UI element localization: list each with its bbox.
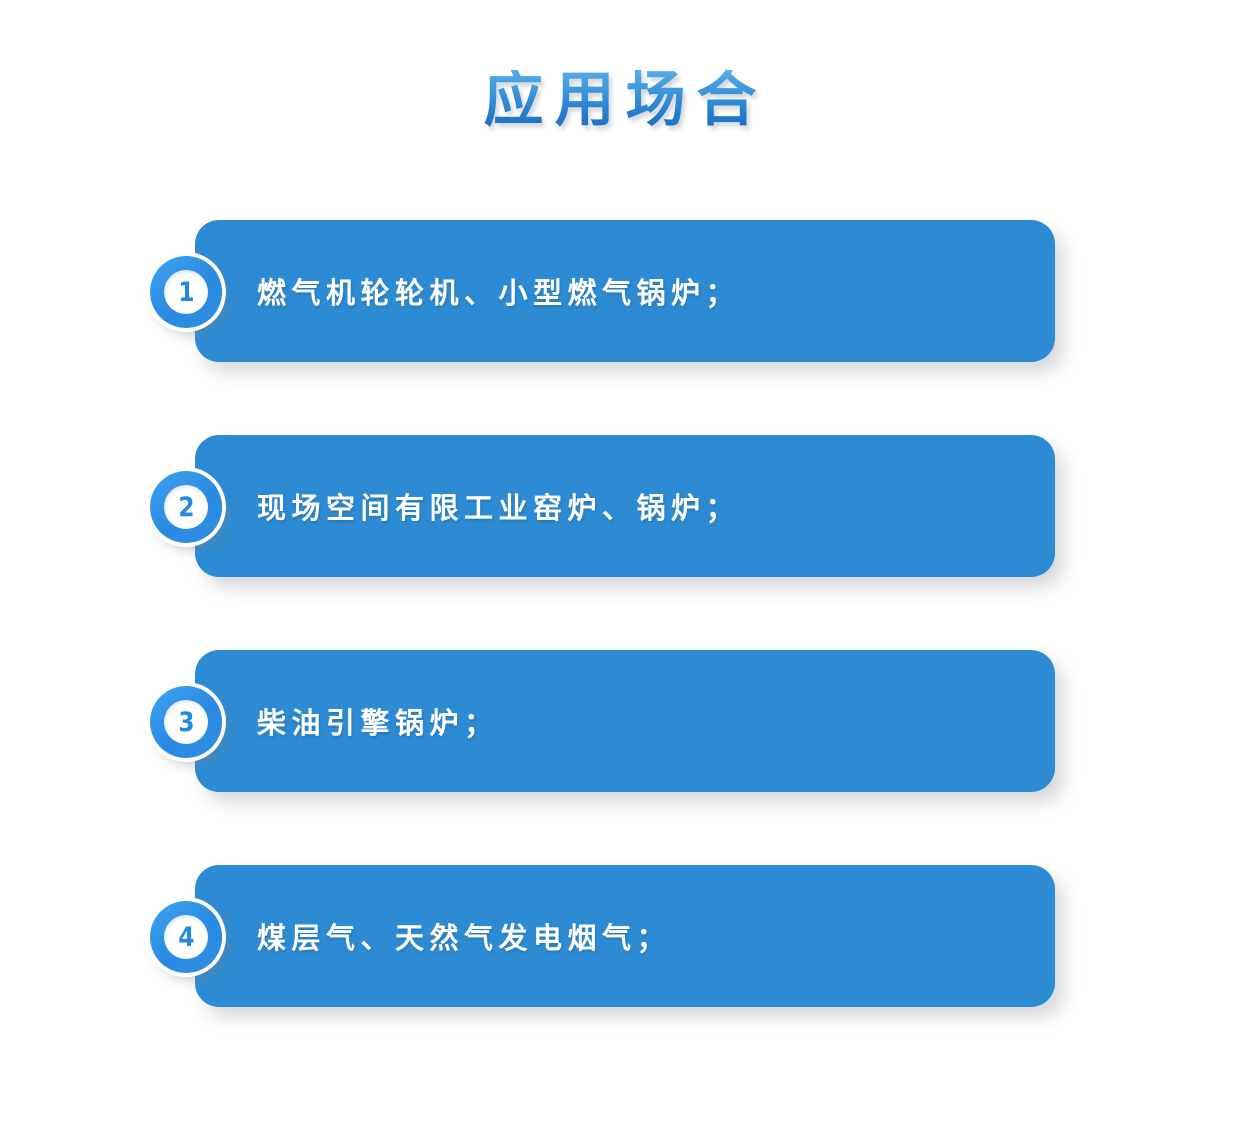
scenario-card-label: 燃气机轮轮机、小型燃气锅炉； <box>257 270 740 312</box>
number-badge-inner: 2 <box>164 485 208 529</box>
number-badge-inner: 3 <box>164 700 208 744</box>
list-item[interactable]: 燃气机轮轮机、小型燃气锅炉； 1 <box>0 220 1240 362</box>
list-item[interactable]: 柴油引擎锅炉； 3 <box>0 650 1240 792</box>
scenario-card-4[interactable]: 煤层气、天然气发电烟气； <box>195 865 1055 1007</box>
list-item[interactable]: 煤层气、天然气发电烟气； 4 <box>0 865 1240 1007</box>
page-header: 应用场合 <box>0 0 1240 200</box>
scenario-card-label: 现场空间有限工业窑炉、锅炉； <box>257 485 740 527</box>
number-badge-1: 1 <box>150 256 222 328</box>
number-badge-value: 3 <box>178 709 194 736</box>
number-badge-value: 1 <box>178 279 194 306</box>
scenario-card-1[interactable]: 燃气机轮轮机、小型燃气锅炉； <box>195 220 1055 362</box>
page-title: 应用场合 <box>473 70 768 130</box>
scenario-card-3[interactable]: 柴油引擎锅炉； <box>195 650 1055 792</box>
number-badge-value: 4 <box>178 924 194 951</box>
list-item[interactable]: 现场空间有限工业窑炉、锅炉； 2 <box>0 435 1240 577</box>
number-badge-3: 3 <box>150 686 222 758</box>
number-badge-4: 4 <box>150 901 222 973</box>
number-badge-inner: 4 <box>164 915 208 959</box>
scenario-card-label: 煤层气、天然气发电烟气； <box>257 915 671 957</box>
scenario-card-2[interactable]: 现场空间有限工业窑炉、锅炉； <box>195 435 1055 577</box>
number-badge-inner: 1 <box>164 270 208 314</box>
number-badge-2: 2 <box>150 471 222 543</box>
scenario-card-label: 柴油引擎锅炉； <box>257 700 499 742</box>
number-badge-value: 2 <box>178 494 194 521</box>
application-scenario-list: 燃气机轮轮机、小型燃气锅炉； 1 现场空间有限工业窑炉、锅炉； 2 柴油引擎锅炉… <box>0 220 1240 1007</box>
